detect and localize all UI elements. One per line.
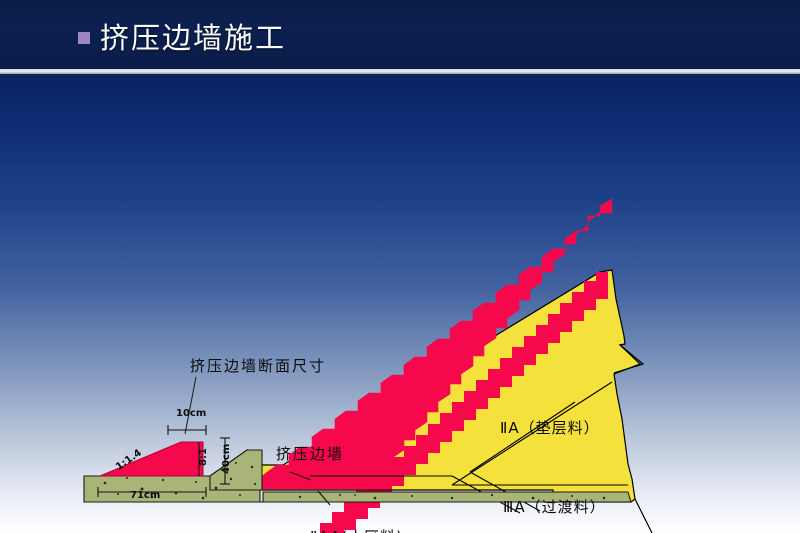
break-line-bottom bbox=[635, 499, 652, 533]
zone-label-iiia-transition: ⅢA（过渡料） bbox=[503, 496, 606, 517]
slide-header: 挤压边墙施工 bbox=[0, 0, 800, 69]
detail-caption-leader bbox=[185, 377, 196, 434]
slide-body: 挤压边墙断面尺寸 10cm 71cm 1:1.4 8:1 40cm 挤压边墙 趾… bbox=[0, 74, 800, 533]
zone-label-iia-cushion: ⅡA（垫层料） bbox=[500, 417, 600, 438]
zone-label-iiaa-small: ⅡAA(小区料) bbox=[310, 526, 403, 533]
callout-extruded-sidewall: 挤压边墙 bbox=[276, 443, 344, 464]
square-bullet-icon bbox=[78, 32, 90, 44]
dim-label-base-width: 71cm bbox=[130, 490, 160, 501]
page-title: 挤压边墙施工 bbox=[100, 18, 286, 58]
dim-label-right-height: 40cm bbox=[221, 444, 232, 474]
detail-caption: 挤压边墙断面尺寸 bbox=[190, 355, 326, 376]
detail-red-section bbox=[100, 442, 203, 476]
dim-top-10cm bbox=[168, 425, 206, 435]
dim-label-inner-height: 8:1 bbox=[198, 448, 209, 466]
slide-root: 挤压边墙施工 bbox=[0, 0, 800, 533]
dim-label-top-width: 10cm bbox=[176, 408, 206, 419]
